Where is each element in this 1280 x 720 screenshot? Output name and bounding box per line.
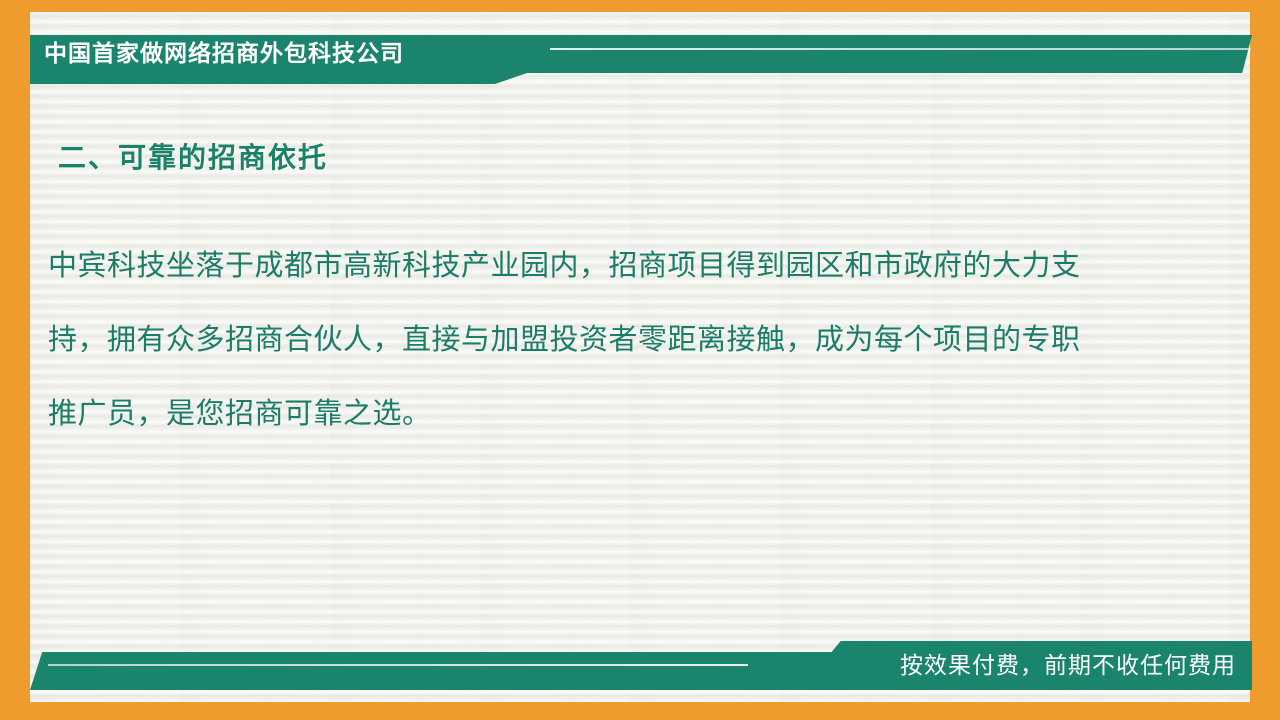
body-line-3: 推广员，是您招商可靠之选。 [48, 376, 1188, 450]
body-paragraph: 中宾科技坐落于成都市高新科技产业园内，招商项目得到园区和市政府的大力支 持，拥有… [48, 228, 1188, 450]
header-title-plate-foot [30, 72, 530, 84]
body-line-2: 持，拥有众多招商合伙人，直接与加盟投资者零距离接触，成为每个项目的专职 [48, 302, 1188, 376]
header-divider-line [545, 48, 1251, 50]
header-banner-text: 中国首家做网络招商外包科技公司 [44, 37, 404, 71]
footer-divider-line [48, 664, 748, 666]
section-heading: 二、可靠的招商依托 [58, 136, 328, 176]
footer-slogan-text: 按效果付费，前期不收任何费用 [900, 650, 1236, 683]
body-line-1: 中宾科技坐落于成都市高新科技产业园内，招商项目得到园区和市政府的大力支 [48, 228, 1188, 302]
slide-canvas: 中国首家做网络招商外包科技公司 二、可靠的招商依托 中宾科技坐落于成都市高新科技… [0, 0, 1280, 720]
